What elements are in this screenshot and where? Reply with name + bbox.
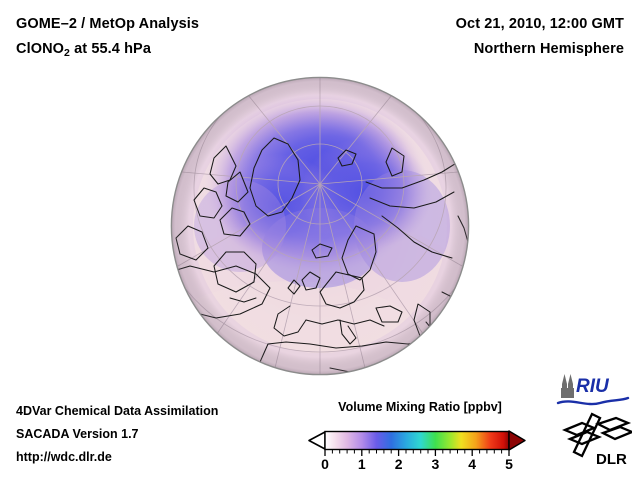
colorbar-tick-label: 0	[321, 456, 329, 471]
title-species: ClONO2 at 55.4 hPa	[16, 37, 199, 66]
dlr-logo-svg: DLR	[562, 412, 632, 468]
figure-title-block: GOME–2 / MetOp Analysis ClONO2 at 55.4 h…	[16, 12, 199, 66]
colorbar-low-cap	[309, 432, 325, 449]
riu-logo-svg: RIU	[556, 372, 630, 408]
riu-swoosh	[558, 398, 628, 404]
footer-credits: 4DVar Chemical Data Assimilation SACADA …	[16, 400, 218, 469]
dlr-mark-icon	[565, 414, 632, 456]
riu-wordmark: RIU	[576, 376, 610, 397]
globe-map	[170, 76, 470, 376]
title-instrument: GOME–2 / MetOp Analysis	[16, 12, 199, 37]
colorbar: Volume Mixing Ratio [ppbv]	[305, 400, 535, 472]
colorbar-tick-label: 4	[468, 456, 476, 471]
species-name: ClONO	[16, 41, 64, 57]
colorbar-gradient	[325, 432, 509, 450]
globe-svg	[170, 76, 470, 376]
dlr-logo: DLR	[562, 412, 632, 473]
colorbar-tick-label: 1	[358, 456, 366, 471]
colorbar-ticks	[325, 450, 509, 457]
footer-line-url[interactable]: http://wdc.dlr.de	[16, 446, 218, 469]
colorbar-svg[interactable]: 0 1 2 3 4 5	[305, 419, 535, 471]
cathedral-icon	[561, 374, 574, 398]
hemisphere-label: Northern Hemisphere	[456, 37, 624, 62]
colorbar-title: Volume Mixing Ratio [ppbv]	[305, 400, 535, 414]
colorbar-tick-labels: 0 1 2 3 4 5	[321, 456, 513, 471]
colorbar-high-cap	[509, 431, 525, 450]
footer-line-version: SACADA Version 1.7	[16, 423, 218, 446]
figure-meta-block: Oct 21, 2010, 12:00 GMT Northern Hemisph…	[456, 12, 624, 62]
colorbar-tick-label: 3	[432, 456, 440, 471]
colorbar-tick-label: 5	[505, 456, 513, 471]
timestamp-label: Oct 21, 2010, 12:00 GMT	[456, 12, 624, 37]
colorbar-tick-label: 2	[395, 456, 403, 471]
species-level: at 55.4 hPa	[70, 41, 151, 57]
riu-logo: RIU	[556, 372, 630, 413]
dlr-wordmark: DLR	[596, 451, 627, 468]
figure-canvas: GOME–2 / MetOp Analysis ClONO2 at 55.4 h…	[0, 0, 640, 480]
footer-line-method: 4DVar Chemical Data Assimilation	[16, 400, 218, 423]
